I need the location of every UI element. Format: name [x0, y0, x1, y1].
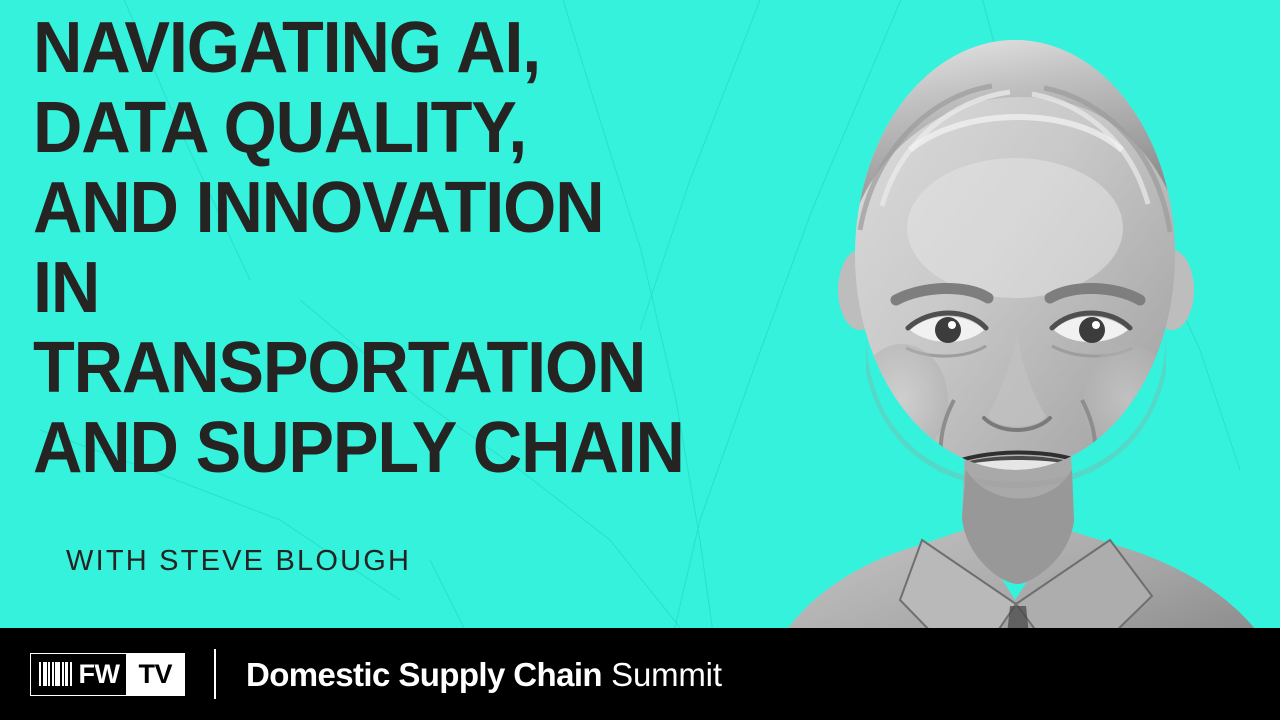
fwtv-logo-right: TV [126, 654, 184, 695]
speaker-portrait-image [770, 0, 1280, 720]
speaker-subtitle: WITH STEVE BLOUGH [66, 545, 411, 578]
headline-line: AND SUPPLY CHAIN [33, 408, 822, 488]
headline-title: NAVIGATING AI, DATA QUALITY, AND INNOVAT… [33, 8, 863, 488]
headline-line: AND INNOVATION [33, 168, 822, 248]
fwtv-logo-left: FW [31, 654, 126, 695]
headline-line: IN [33, 248, 822, 328]
speaker-portrait [770, 0, 1280, 720]
event-title: Domestic Supply Chain Summit [246, 658, 722, 691]
fwtv-logo-primary-text: FW [79, 661, 120, 688]
footer-divider [214, 649, 216, 699]
headline-line: NAVIGATING AI, [33, 8, 822, 88]
headline-line: DATA QUALITY, [33, 88, 822, 168]
video-thumbnail-slide: NAVIGATING AI, DATA QUALITY, AND INNOVAT… [0, 0, 1280, 720]
fwtv-logo-secondary-text: TV [138, 661, 172, 688]
barcode-icon [39, 662, 72, 686]
event-title-bold: Domestic Supply Chain [246, 656, 602, 693]
fwtv-logo[interactable]: FW TV [30, 653, 185, 696]
headline-line: TRANSPORTATION [33, 328, 822, 408]
footer-content: FW TV Domestic Supply Chain Summit [0, 628, 1280, 720]
event-title-light: Summit [611, 656, 722, 693]
